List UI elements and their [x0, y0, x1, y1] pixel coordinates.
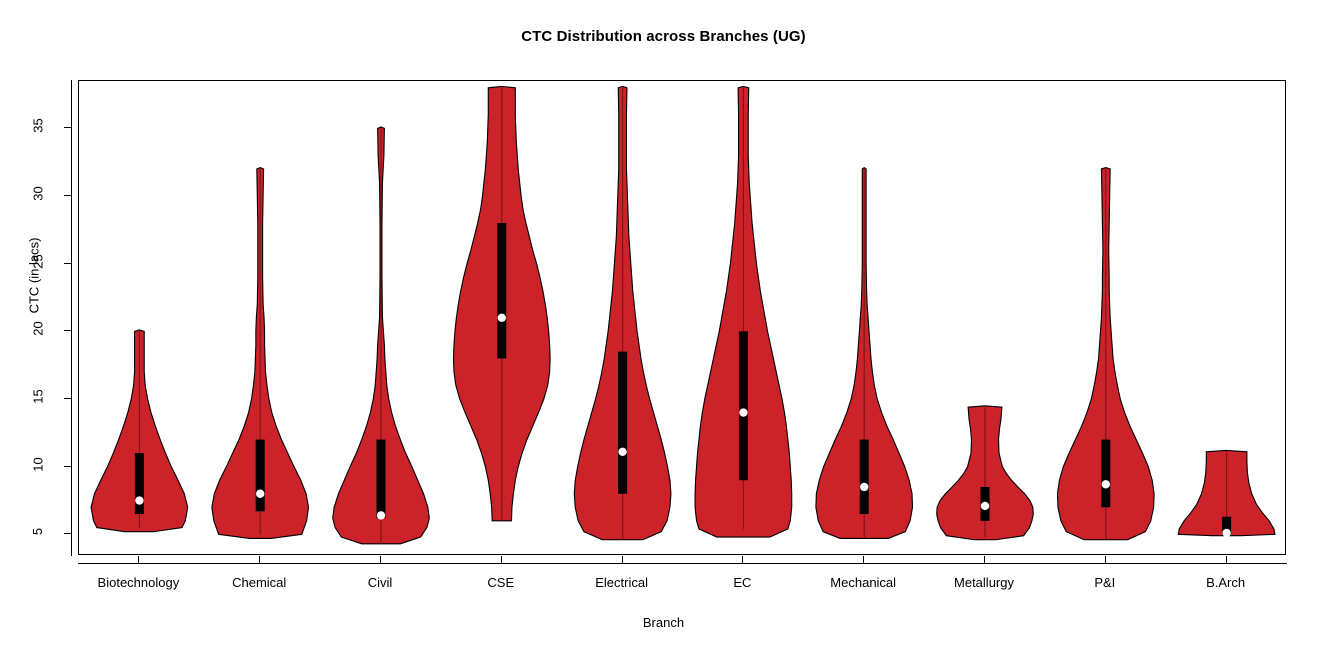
violin-b-arch [1178, 450, 1275, 537]
y-axis-tick-label-text: 35 [31, 119, 46, 133]
y-axis-tick-label: 35 [18, 118, 58, 133]
y-axis-tick-label: 15 [18, 389, 58, 404]
violin-iqr-box [135, 453, 144, 514]
violin-median-marker [256, 490, 264, 498]
violin-ec [695, 86, 792, 537]
violin-iqr-box [1101, 440, 1110, 508]
violin-cse [453, 86, 550, 520]
x-axis-tick [622, 556, 623, 564]
y-axis-tick-label-text: 10 [31, 457, 46, 471]
y-axis-tick-label-text: 5 [30, 528, 45, 535]
y-axis-tick-label-text: 30 [31, 186, 46, 200]
y-axis-line [71, 80, 72, 556]
violin-mechanical [816, 168, 913, 539]
y-axis-tick-label: 10 [18, 457, 58, 472]
y-axis-tick [64, 398, 72, 399]
x-axis-tick [501, 556, 502, 564]
y-axis-tick [64, 330, 72, 331]
plot-inner [79, 81, 1285, 554]
violin-electrical [574, 86, 671, 539]
x-axis-tick [138, 556, 139, 564]
y-axis-tick [64, 466, 72, 467]
x-axis-tick-label: B.Arch [1146, 575, 1306, 590]
y-axis-tick-label: 20 [18, 321, 58, 336]
violin-median-marker [739, 408, 747, 416]
violin-series-group [79, 81, 1287, 556]
x-axis-title: Branch [0, 615, 1327, 630]
x-axis-tick [259, 556, 260, 564]
page-title: CTC Distribution across Branches (UG) [0, 28, 1327, 45]
violin-median-marker [1222, 529, 1230, 537]
y-axis-tick-label: 5 [18, 524, 58, 539]
x-axis-tick [1105, 556, 1106, 564]
x-axis-tick [742, 556, 743, 564]
y-axis-tick-label-text: 15 [31, 389, 46, 403]
violin-biotechnology [91, 330, 188, 532]
violin-civil [333, 127, 430, 544]
violin-chart-page: CTC Distribution across Branches (UG) 51… [0, 0, 1327, 653]
y-axis-tick-label: 30 [18, 186, 58, 201]
x-axis-tick [380, 556, 381, 564]
violin-median-marker [860, 483, 868, 491]
violin-chemical [212, 168, 309, 539]
violin-metallurgy [937, 406, 1034, 540]
y-axis-tick-label-text: 20 [31, 322, 46, 336]
violin-iqr-box [860, 440, 869, 514]
plot-area [78, 80, 1286, 555]
violin-iqr-box [618, 352, 627, 494]
x-axis-tick [863, 556, 864, 564]
x-axis-tick [984, 556, 985, 564]
violin-p-i [1057, 168, 1154, 540]
violin-iqr-box [739, 331, 748, 480]
violin-median-marker [135, 496, 143, 504]
y-axis-title-text: CTC (in lacs) [27, 238, 42, 314]
violin-iqr-box [497, 223, 506, 358]
violin-median-marker [498, 314, 506, 322]
violin-median-marker [377, 511, 385, 519]
y-axis-tick [64, 263, 72, 264]
y-axis-tick [64, 195, 72, 196]
y-axis-tick [64, 127, 72, 128]
violin-iqr-box [377, 440, 386, 518]
y-axis-tick [64, 533, 72, 534]
violin-median-marker [981, 502, 989, 510]
violin-iqr-box [256, 440, 265, 512]
x-axis-tick [1226, 556, 1227, 564]
violin-median-marker [618, 448, 626, 456]
violin-median-marker [1102, 480, 1110, 488]
